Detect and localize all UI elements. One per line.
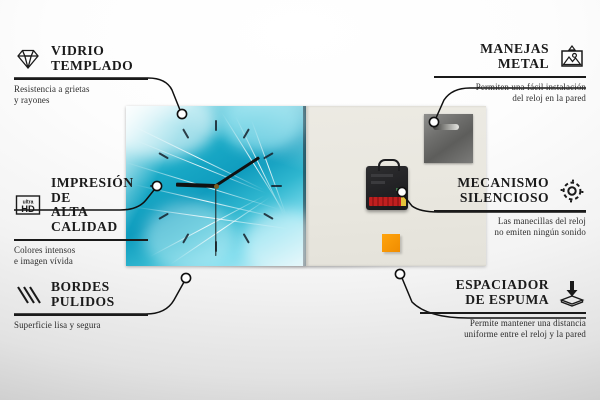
feature-mechanism-head: MECANISMO SILENCIOSO xyxy=(434,176,586,205)
feature-spacer: ESPACIADOR DE ESPUMA Permite mantener un… xyxy=(420,278,586,340)
connector-dot-handles xyxy=(429,117,438,126)
feature-handles-rule xyxy=(434,76,586,78)
feature-mechanism-rule xyxy=(434,210,586,212)
connector-dot-spacer xyxy=(395,269,404,278)
feature-spacer-title: ESPACIADOR DE ESPUMA xyxy=(456,278,549,307)
gear-icon xyxy=(558,177,586,205)
ultra-hd-icon: ultra HD xyxy=(14,191,42,219)
feature-print: ultra HD IMPRESIÓN DE ALTA CALIDAD Color… xyxy=(14,176,148,267)
connector-dot-mechanism xyxy=(397,187,406,196)
svg-text:HD: HD xyxy=(21,203,35,214)
connector-dot-glass xyxy=(177,109,186,118)
connector-dot-edges xyxy=(181,273,190,282)
feature-print-rule xyxy=(14,239,148,241)
feature-handles: MANEJAS METAL Permiten una fácil instala… xyxy=(434,42,586,104)
polished-edges-icon xyxy=(14,281,42,309)
feature-edges-rule xyxy=(14,314,148,316)
feature-glass: VIDRIO TEMPLADO Resistencia a grietas y … xyxy=(14,44,148,106)
feature-mechanism-title: MECANISMO SILENCIOSO xyxy=(457,176,549,205)
feature-print-title: IMPRESIÓN DE ALTA CALIDAD xyxy=(51,176,148,234)
feature-print-subtitle: Colores intensos e imagen vívida xyxy=(14,245,148,267)
feature-edges-head: BORDES PULIDOS xyxy=(14,280,148,309)
feature-handles-subtitle: Permiten una fácil instalación del reloj… xyxy=(434,82,586,104)
feature-print-head: ultra HD IMPRESIÓN DE ALTA CALIDAD xyxy=(14,176,148,234)
feature-mechanism: MECANISMO SILENCIOSO Las manecillas del … xyxy=(434,176,586,238)
feature-glass-head: VIDRIO TEMPLADO xyxy=(14,44,148,73)
feature-spacer-head: ESPACIADOR DE ESPUMA xyxy=(420,278,586,307)
picture-frame-icon xyxy=(558,43,586,71)
feature-glass-rule xyxy=(14,78,148,80)
feature-mechanism-subtitle: Las manecillas del reloj no emiten ningú… xyxy=(434,216,586,238)
feature-handles-head: MANEJAS METAL xyxy=(434,42,586,71)
feature-handles-title: MANEJAS METAL xyxy=(480,42,549,71)
feature-spacer-rule xyxy=(420,312,586,314)
connector-dot-print xyxy=(152,181,161,190)
feature-glass-title: VIDRIO TEMPLADO xyxy=(51,44,133,73)
product-infographic: VIDRIO TEMPLADO Resistencia a grietas y … xyxy=(0,0,600,400)
foam-spacer-icon xyxy=(558,279,586,307)
feature-glass-subtitle: Resistencia a grietas y rayones xyxy=(14,84,148,106)
feature-edges-title: BORDES PULIDOS xyxy=(51,280,115,309)
feature-edges: BORDES PULIDOS Superficie lisa y segura xyxy=(14,280,148,331)
feature-spacer-subtitle: Permite mantener una distancia uniforme … xyxy=(420,318,586,340)
feature-edges-subtitle: Superficie lisa y segura xyxy=(14,320,148,331)
diamond-icon xyxy=(14,45,42,73)
